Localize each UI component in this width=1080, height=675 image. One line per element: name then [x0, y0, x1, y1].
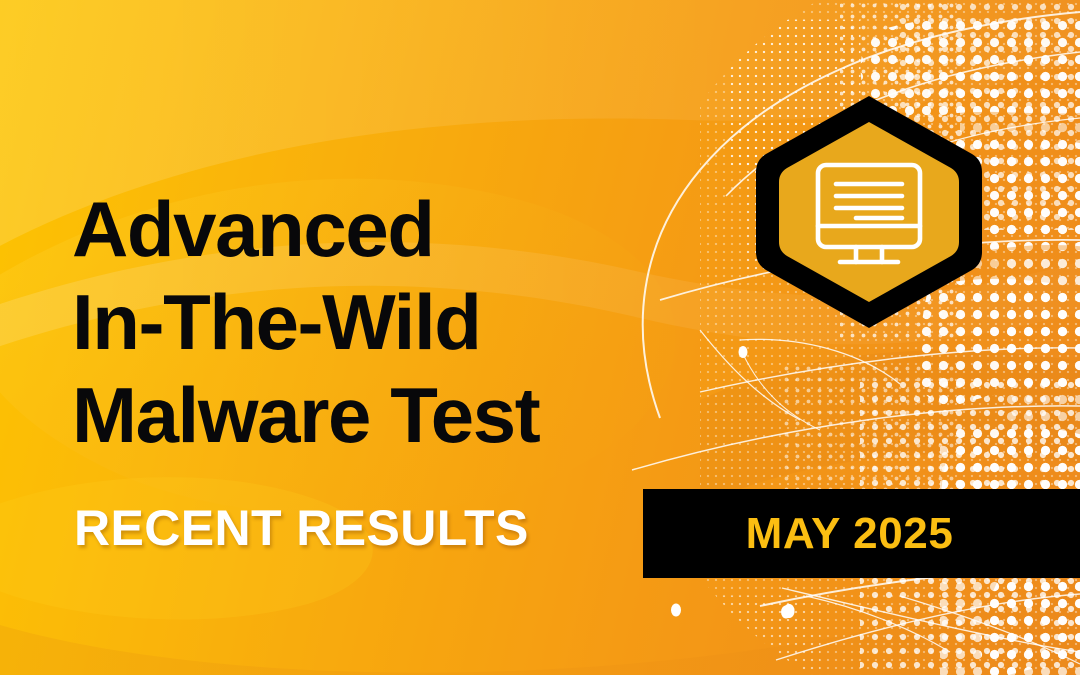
headline-line-3: Malware Test [72, 369, 792, 462]
subtitle-recent-results: RECENT RESULTS [74, 497, 529, 559]
date-badge: MAY 2025 [643, 489, 1080, 578]
page-title: Advanced In-The-Wild Malware Test [72, 183, 792, 462]
headline-line-1: Advanced [72, 183, 792, 276]
marketing-banner: Advanced In-The-Wild Malware Test RECENT… [0, 0, 1080, 675]
date-badge-label: MAY 2025 [746, 512, 954, 556]
headline-line-2: In-The-Wild [72, 276, 792, 369]
